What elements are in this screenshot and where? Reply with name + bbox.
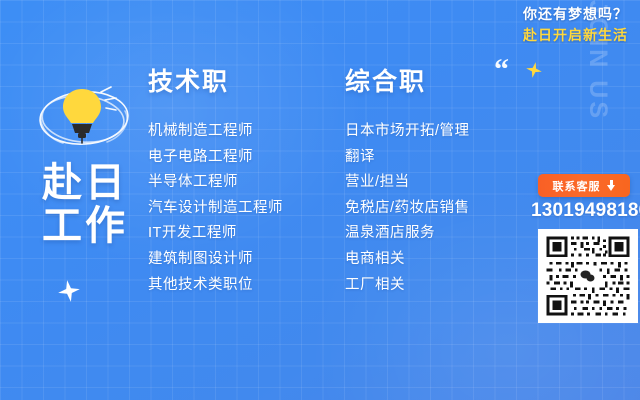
star-icon-white xyxy=(56,278,81,303)
column-title-general: 综合职 xyxy=(345,62,470,98)
list-item: 日本市场开拓/管理 xyxy=(345,119,470,145)
list-item: 汽车设计制造工程师 xyxy=(148,196,283,222)
list-item: 其他技术类职位 xyxy=(148,273,283,299)
headline-line-1: 你还有梦想吗？ xyxy=(523,6,628,24)
logo-block: 赴日 工作 xyxy=(20,78,150,248)
contact-service-label: 联系客服 xyxy=(553,178,601,194)
list-item: 机械制造工程师 xyxy=(148,119,283,145)
list-item: 营业/担当 xyxy=(345,170,470,196)
column-title-technical: 技术职 xyxy=(148,62,283,98)
logo-text-line-2: 工作 xyxy=(20,205,150,248)
poster-root: JOIN US 你还有梦想吗？ 赴日开启新生活 “ xyxy=(0,0,640,400)
column-technical: 技术职 机械制造工程师 电子电路工程师 半导体工程师 汽车设计制造工程师 IT开… xyxy=(148,62,283,298)
headline-line-2: 赴日开启新生活 xyxy=(523,27,628,45)
contact-service-button[interactable]: 联系客服 xyxy=(538,174,630,197)
column-general: 综合职 日本市场开拓/管理 翻译 营业/担当 免税店/药妆店销售 温泉酒店服务 … xyxy=(345,62,470,298)
logo-text: 赴日 工作 xyxy=(20,162,150,248)
list-item: 翻译 xyxy=(345,145,470,171)
list-item: 电子电路工程师 xyxy=(148,145,283,171)
job-list-technical: 机械制造工程师 电子电路工程师 半导体工程师 汽车设计制造工程师 IT开发工程师… xyxy=(148,119,283,298)
arrow-down-icon xyxy=(607,180,616,191)
list-item: 工厂相关 xyxy=(345,273,470,299)
list-item: IT开发工程师 xyxy=(148,221,283,247)
phone-number[interactable]: 13019498186 xyxy=(531,200,637,222)
headline: 你还有梦想吗？ 赴日开启新生活 xyxy=(523,6,628,44)
quote-mark-icon: “ xyxy=(494,55,509,85)
list-item: 电商相关 xyxy=(345,247,470,273)
list-item: 温泉酒店服务 xyxy=(345,221,470,247)
list-item: 建筑制图设计师 xyxy=(148,247,283,273)
logo-text-line-1: 赴日 xyxy=(20,162,150,205)
list-item: 半导体工程师 xyxy=(148,170,283,196)
wechat-logo-icon xyxy=(578,266,599,287)
star-icon-yellow xyxy=(525,61,544,80)
lightbulb-icon xyxy=(25,78,145,156)
job-list-general: 日本市场开拓/管理 翻译 营业/担当 免税店/药妆店销售 温泉酒店服务 电商相关… xyxy=(345,119,470,298)
qr-code[interactable] xyxy=(538,229,638,323)
list-item: 免税店/药妆店销售 xyxy=(345,196,470,222)
